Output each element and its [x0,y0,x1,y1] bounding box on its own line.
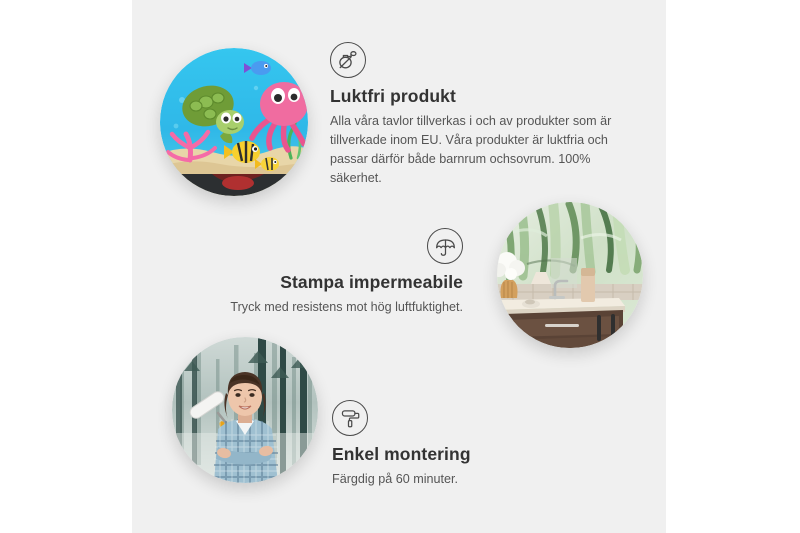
woman-with-paint-roller-image [172,337,318,483]
feature-body: Färgdig på 60 minuter. [332,470,572,489]
feature-body: Alla våra tavlor tillverkas i och av pro… [330,112,630,189]
bathroom-vanity-scene-image [497,202,643,348]
feature-body: Tryck med resistens mot hög luftfuktighe… [215,298,463,317]
infographic-page: Luktfri produkt Alla våra tavlor tillver… [0,0,800,533]
feature-block-assembly: Enkel montering Färgdig på 60 minuter. [332,400,572,489]
paint-roller-icon [332,400,368,436]
no-odor-spray-bottle-icon [330,42,366,78]
underwater-cartoon-scene-image [160,48,308,196]
feature-block-waterproof: Stampa impermeabile Tryck med resistens … [215,228,463,317]
feature-title: Stampa impermeabile [215,272,463,293]
feature-block-odorless: Luktfri produkt Alla våra tavlor tillver… [330,42,630,189]
feature-title: Luktfri produkt [330,86,630,107]
umbrella-icon [427,228,463,264]
feature-title: Enkel montering [332,444,572,465]
